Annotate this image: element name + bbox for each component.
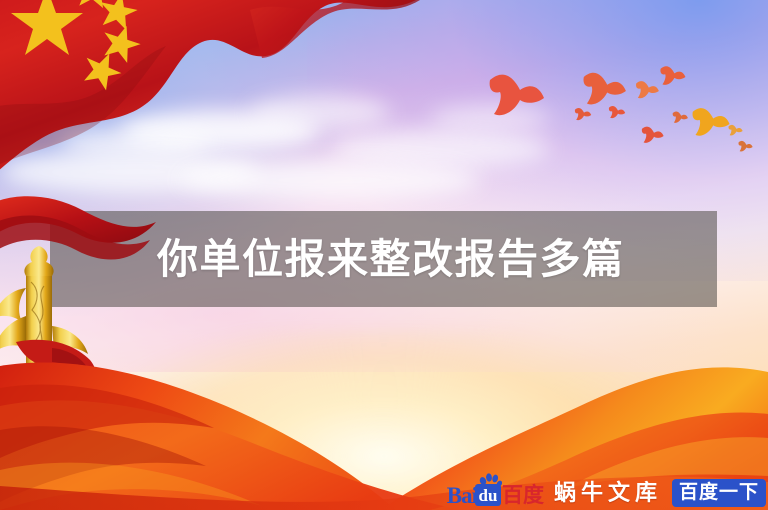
baidu-logo[interactable]: Bai du 百度 (447, 480, 544, 506)
banner-image: 你单位报来整改报告多篇 (0, 0, 768, 510)
baidu-du-box: du (475, 484, 501, 506)
baidu-bai-text: Bai (447, 485, 477, 506)
chinese-flag-icon (0, 0, 420, 190)
watermark-bar: Bai du 百度 蜗牛文库 百度一下 (447, 476, 768, 510)
paw-print-icon (478, 472, 502, 488)
baidu-search-button[interactable]: 百度一下 (672, 479, 766, 507)
baidu-chinese-text: 百度 (502, 485, 544, 506)
page-title: 你单位报来整改报告多篇 (157, 239, 625, 280)
flying-birds-icon (480, 48, 768, 166)
site-brand-label: 蜗牛文库 (554, 482, 662, 504)
baidu-du-text: du (479, 486, 498, 506)
